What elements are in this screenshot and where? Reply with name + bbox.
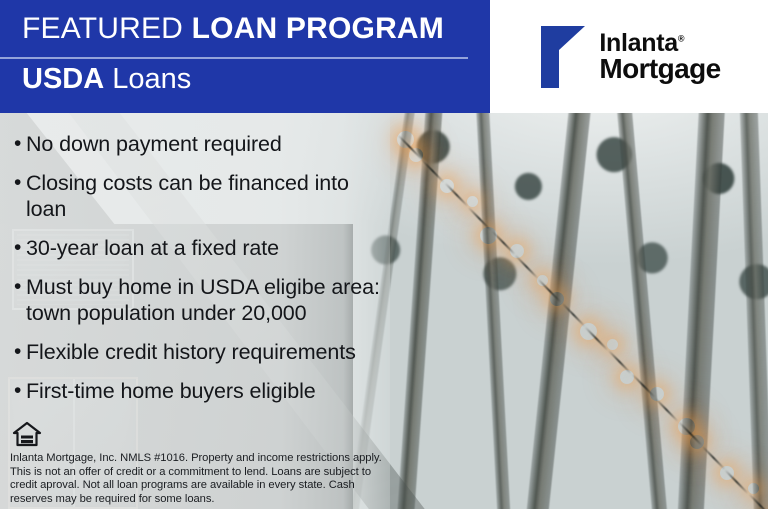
light-string-wire <box>654 398 679 423</box>
registered-trademark-icon: ® <box>678 33 684 43</box>
light-string-wire <box>491 230 516 255</box>
light-string-wire <box>725 469 750 494</box>
list-item: •Flexible credit history requirements <box>14 339 386 365</box>
subtitle-bold-text: USDA <box>22 63 104 95</box>
bullet-marker-icon: • <box>14 339 26 365</box>
light-string-wire <box>467 206 492 231</box>
list-item: •No down payment required <box>14 131 386 157</box>
light-string-wire <box>514 254 539 279</box>
logo-wordmark: Inlanta® Mortgage <box>599 31 720 83</box>
list-item: •First-time home buyers eligible <box>14 378 386 404</box>
usda-loan-flyer: FEATURED LOAN PROGRAM USDA Loans Inlanta… <box>0 0 768 509</box>
bullet-marker-icon: • <box>14 170 26 196</box>
page-title: USDA Loans <box>22 62 490 96</box>
light-string-wire <box>561 302 586 327</box>
bullet-marker-icon: • <box>14 274 26 300</box>
bullet-marker-icon: • <box>14 378 26 404</box>
list-item: •Closing costs can be financed into loan <box>14 170 386 222</box>
kicker-light-text: FEATURED <box>22 12 192 45</box>
list-item-label: Closing costs can be financed into loan <box>26 170 386 222</box>
list-item-label: 30-year loan at a fixed rate <box>26 235 386 261</box>
list-item-label: Must buy home in USDA eligibe area: town… <box>26 274 386 326</box>
light-string-wire <box>444 182 469 207</box>
light-string-wire <box>748 493 768 509</box>
light-string-wire <box>421 158 446 183</box>
header: FEATURED LOAN PROGRAM USDA Loans Inlanta… <box>0 0 768 113</box>
benefits-list: •No down payment required•Closing costs … <box>14 131 386 417</box>
bullet-marker-icon: • <box>14 235 26 261</box>
subtitle-light-text: Loans <box>104 63 191 95</box>
light-string-wire <box>608 350 633 375</box>
logo-panel: Inlanta® Mortgage <box>490 0 768 113</box>
list-item: •Must buy home in USDA eligibe area: tow… <box>14 274 386 326</box>
list-item: •30-year loan at a fixed rate <box>14 235 386 261</box>
brand-name-line2: Mortgage <box>599 55 720 82</box>
inlanta-mortgage-logo: Inlanta® Mortgage <box>537 24 720 90</box>
list-item-label: First-time home buyers eligible <box>26 378 386 404</box>
bullet-marker-icon: • <box>14 131 26 157</box>
list-item-label: Flexible credit history requirements <box>26 339 386 365</box>
brand-name-line1: Inlanta <box>599 29 677 57</box>
string-light-bulb <box>397 131 414 148</box>
light-string-wire <box>701 445 726 470</box>
light-string-wire <box>631 374 656 399</box>
list-item-label: No down payment required <box>26 131 386 157</box>
kicker-title: FEATURED LOAN PROGRAM <box>22 12 490 46</box>
header-divider <box>0 57 468 59</box>
header-blue-panel: FEATURED LOAN PROGRAM USDA Loans <box>0 0 490 113</box>
equal-housing-lender-icon <box>12 421 42 449</box>
inlanta-flag-mark <box>537 24 589 90</box>
legal-disclaimer: Inlanta Mortgage, Inc. NMLS #1016. Prope… <box>10 452 382 506</box>
kicker-bold-text: LOAN PROGRAM <box>192 12 444 45</box>
